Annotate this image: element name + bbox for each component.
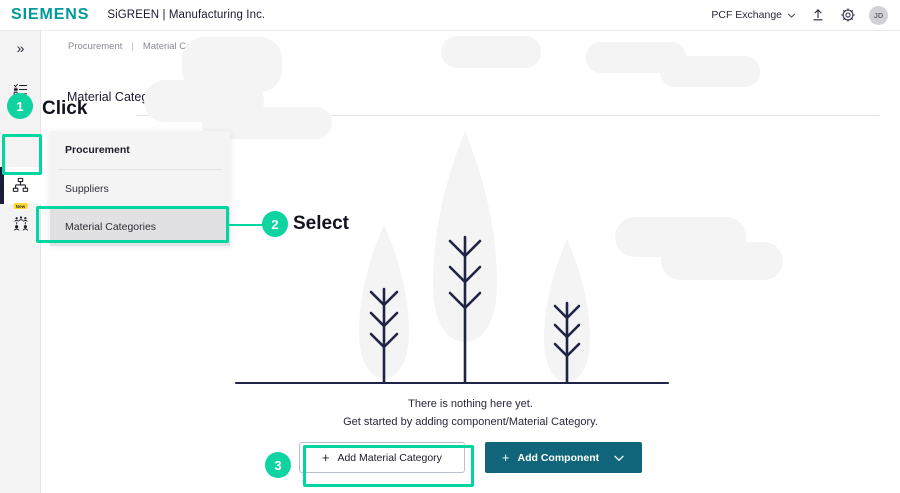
new-badge: New: [13, 203, 28, 209]
breadcrumb-separator: |: [131, 41, 133, 52]
title-divider: [137, 115, 879, 116]
chevron-down-icon[interactable]: [613, 452, 625, 464]
plus-icon: +: [322, 451, 330, 464]
application-title: SiGREEN | Manufacturing Inc.: [107, 9, 265, 21]
annotation-badge-1: 1: [7, 93, 33, 119]
gear-icon[interactable]: [839, 7, 856, 24]
procurement-dropdown-menu: Procurement Suppliers Material Categorie…: [50, 131, 230, 244]
header-actions: PCF Exchange: [711, 6, 888, 25]
empty-state-text: There is nothing here yet. Get started b…: [41, 395, 900, 431]
add-component-button[interactable]: + Add Component: [485, 442, 642, 473]
breadcrumb-parent[interactable]: Procurement: [68, 41, 122, 52]
people-network-icon: [12, 214, 30, 232]
action-buttons: + Add Material Category + Add Component: [41, 442, 900, 473]
breadcrumb: Procurement | Material Categories: [68, 41, 225, 52]
avatar[interactable]: JD: [869, 6, 888, 25]
sidebar-item-suppliers-network[interactable]: New: [0, 202, 41, 239]
siemens-logo: SIEMENS: [11, 6, 89, 24]
empty-state-line-1: There is nothing here yet.: [41, 395, 900, 413]
annotation-connector-2: [229, 224, 265, 226]
annotation-badge-3: 3: [265, 452, 291, 478]
app-window: SIEMENS SiGREEN | Manufacturing Inc. PCF…: [0, 0, 900, 493]
pcf-exchange-label: PCF Exchange: [711, 9, 782, 21]
expand-sidebar-button[interactable]: »: [0, 31, 41, 64]
plus-icon: +: [502, 451, 510, 464]
dropdown-item-suppliers[interactable]: Suppliers: [50, 170, 230, 208]
upload-icon[interactable]: [809, 7, 826, 24]
pcf-exchange-selector[interactable]: PCF Exchange: [711, 9, 796, 21]
empty-state-line-2: Get started by adding component/Material…: [41, 413, 900, 431]
top-header-bar: SIEMENS SiGREEN | Manufacturing Inc. PCF…: [0, 0, 900, 31]
breadcrumb-current: Material Categories: [143, 41, 225, 52]
add-component-label: Add Component: [518, 452, 600, 464]
annotation-label-2: Select: [293, 213, 349, 235]
dropdown-item-material-categories[interactable]: Material Categories: [50, 208, 230, 246]
add-material-category-label: Add Material Category: [337, 452, 441, 464]
dropdown-header-procurement: Procurement: [50, 131, 230, 169]
org-chart-icon: [11, 176, 30, 195]
add-material-category-button[interactable]: + Add Material Category: [299, 442, 465, 473]
annotation-label-1: Click: [42, 98, 87, 120]
main-content: Procurement | Material Categories Materi…: [41, 31, 900, 493]
sidebar-item-procurement[interactable]: [0, 167, 41, 204]
annotation-badge-2: 2: [262, 211, 288, 237]
chevron-down-icon: [787, 11, 796, 20]
